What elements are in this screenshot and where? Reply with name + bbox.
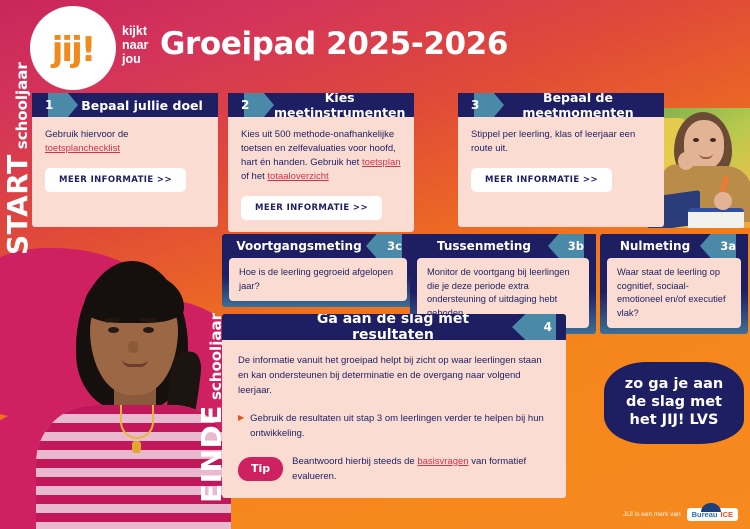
measurement-number-badge-3c: 3c xyxy=(366,234,414,258)
measurement-number-3b: 3b xyxy=(568,239,584,253)
link-toetsplanchecklist[interactable]: toetsplanchecklist xyxy=(45,143,120,154)
step-text-1: Gebruik hiervoor de toetsplanchecklist xyxy=(45,128,205,156)
phase-label-start: START schooljaar xyxy=(1,62,34,255)
step-card-2-header: 2 Kies meetinstrumenten xyxy=(228,93,414,117)
callout-line-3: het JIJ! LVS xyxy=(630,412,719,428)
phase-start-small: schooljaar xyxy=(13,62,31,149)
measurement-3b-header: Tussenmeting 3b xyxy=(410,234,596,258)
footer-brand-second: ICE xyxy=(720,510,733,519)
measurement-title-3c: Voortgangsmeting xyxy=(222,239,366,253)
measurement-card-3a: Nulmeting 3a Waar staat de leerling op c… xyxy=(600,234,748,334)
step4-paragraph: De informatie vanuit het groeipad helpt … xyxy=(238,353,550,399)
measurement-card-3c: Voortgangsmeting 3c Hoe is de leerling g… xyxy=(222,234,414,307)
callout-line-2: de slag met xyxy=(626,394,722,410)
step-number-badge-3: 3 xyxy=(458,93,504,117)
measurement-number-3c: 3c xyxy=(387,239,402,253)
wave-icon xyxy=(701,503,721,512)
measurement-number-badge-3a: 3a xyxy=(700,234,748,258)
measurement-3c-header: Voortgangsmeting 3c xyxy=(222,234,414,258)
step-number-4: 4 xyxy=(544,320,552,334)
measurement-title-3b: Tussenmeting xyxy=(410,239,548,253)
measurement-number-badge-3b: 3b xyxy=(548,234,596,258)
link-basisvragen[interactable]: basisvragen xyxy=(417,456,468,467)
step-number-badge-2: 2 xyxy=(228,93,274,117)
step4-tip-text: Beantwoord hierbij steeds de basisvragen… xyxy=(292,454,550,484)
step-card-1: 1 Bepaal jullie doel Gebruik hiervoor de… xyxy=(32,93,218,227)
step-title-3: Bepaal de meetmomenten xyxy=(504,93,664,117)
step-card-1-body: Gebruik hiervoor de toetsplanchecklist M… xyxy=(32,117,218,227)
footer-text: JIJ! is een merk van xyxy=(623,511,681,518)
measurement-body-3a: Waar staat de leerling op cognitief, soc… xyxy=(607,258,741,328)
link-totaaloverzicht[interactable]: totaaloverzicht xyxy=(267,171,328,182)
measurement-number-3a: 3a xyxy=(720,239,736,253)
measurement-body-3c: Hoe is de leerling gegroeid afgelopen ja… xyxy=(229,258,407,301)
page-title: Groeipad 2025-2026 xyxy=(160,26,508,62)
more-info-button-1[interactable]: MEER INFORMATIE >> xyxy=(45,168,186,192)
step-title-1: Bepaal jullie doel xyxy=(78,98,218,113)
step-card-4: Ga aan de slag met resultaten 4 De infor… xyxy=(222,314,566,498)
callout-line-1: zo ga je aan xyxy=(625,376,723,392)
link-toetsplan[interactable]: toetsplan xyxy=(362,157,401,168)
step-title-4: Ga aan de slag met resultaten xyxy=(222,314,512,340)
step-text-3: Stippel per leerling, klas of leerjaar e… xyxy=(471,128,651,156)
callout-blob: zo ga je aan de slag met het JIJ! LVS xyxy=(604,362,744,444)
bureau-ice-logo: Bureau ICE xyxy=(687,508,738,521)
step-number-badge-1: 1 xyxy=(32,93,78,117)
footer: JIJ! is een merk van Bureau ICE xyxy=(623,508,738,521)
step-card-2-body: Kies uit 500 methode-onafhankelijke toet… xyxy=(228,117,414,232)
triangle-bullet-icon: ▶ xyxy=(238,411,244,425)
phase-start-big: START xyxy=(1,154,34,255)
logo-circle: jij! xyxy=(30,6,116,90)
logo-wordmark: jij! xyxy=(52,33,94,67)
more-info-button-2[interactable]: MEER INFORMATIE >> xyxy=(241,196,382,220)
step4-tip-row: Tip Beantwoord hierbij steeds de basisvr… xyxy=(238,454,550,484)
step-title-2: Kies meetinstrumenten xyxy=(274,93,414,117)
step4-bullet-text: Gebruik de resultaten uit stap 3 om leer… xyxy=(250,411,550,441)
more-info-button-3[interactable]: MEER INFORMATIE >> xyxy=(471,168,612,192)
step-text-2: Kies uit 500 methode-onafhankelijke toet… xyxy=(241,128,401,184)
poster-canvas: jij! kijktnaarjou Groeipad 2025-2026 STA… xyxy=(0,0,750,529)
step-card-4-header: Ga aan de slag met resultaten 4 xyxy=(222,314,566,340)
step-card-4-body: De informatie vanuit het groeipad helpt … xyxy=(222,340,566,498)
tip-badge: Tip xyxy=(238,457,283,481)
step-card-3: 3 Bepaal de meetmomenten Stippel per lee… xyxy=(458,93,664,227)
step4-bullet-row: ▶ Gebruik de resultaten uit stap 3 om le… xyxy=(238,411,550,441)
step-number-badge-4: 4 xyxy=(512,314,566,340)
measurement-title-3a: Nulmeting xyxy=(600,239,700,253)
measurement-3a-header: Nulmeting 3a xyxy=(600,234,748,258)
step-number-3: 3 xyxy=(471,98,479,112)
step-card-2: 2 Kies meetinstrumenten Kies uit 500 met… xyxy=(228,93,414,232)
step-card-1-header: 1 Bepaal jullie doel xyxy=(32,93,218,117)
step-number-1: 1 xyxy=(45,98,53,112)
logo-tagline: kijktnaarjou xyxy=(122,24,148,66)
step-card-3-body: Stippel per leerling, klas of leerjaar e… xyxy=(458,117,664,227)
step-number-2: 2 xyxy=(241,98,249,112)
step-card-3-header: 3 Bepaal de meetmomenten xyxy=(458,93,664,117)
